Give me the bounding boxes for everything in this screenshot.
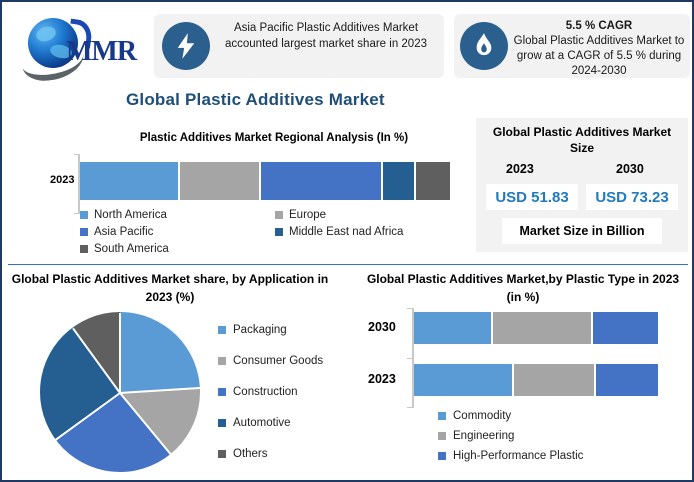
cagr-headline: 5.5 % CAGR — [512, 19, 686, 34]
legend-swatch-icon — [218, 388, 226, 396]
legend-label: Consumer Goods — [233, 355, 323, 367]
application-legend-item: Packaging — [218, 314, 340, 345]
legend-swatch-icon — [438, 412, 446, 420]
badge-cagr: 5.5 % CAGR Global Plastic Additives Mark… — [454, 14, 690, 78]
pie-separator — [119, 313, 121, 393]
legend-label: Asia Pacific — [94, 226, 153, 238]
plastic-type-segment-0-1 — [493, 312, 591, 344]
application-legend-item: Construction — [218, 376, 340, 407]
market-size-unit: Market Size in Billion — [502, 218, 662, 244]
regional-legend-item: North America — [80, 206, 275, 223]
pie-separator — [72, 328, 121, 394]
legend-label: Middle East nad Africa — [289, 226, 403, 238]
chart-plastic-type-title: Global Plastic Additives Market,by Plast… — [360, 270, 686, 306]
market-size-value-2023: USD 51.83 — [486, 184, 578, 210]
chart-application-title: Global Plastic Additives Market share, b… — [10, 270, 330, 306]
legend-label: Europe — [289, 209, 326, 221]
chart-by-application: Global Plastic Additives Market share, b… — [10, 270, 340, 478]
cagr-description: Global Plastic Additives Market to grow … — [514, 35, 685, 77]
chart-plastic-type-bar-2030 — [414, 312, 658, 344]
legend-label: High-Performance Plastic — [453, 450, 583, 462]
chart-application-legend: PackagingConsumer GoodsConstructionAutom… — [218, 314, 340, 469]
legend-swatch-icon — [218, 357, 226, 365]
flame-icon — [460, 22, 508, 70]
legend-label: South America — [94, 243, 169, 255]
lightning-bolt-icon — [162, 22, 210, 70]
legend-label: Engineering — [453, 430, 514, 442]
regional-legend-item: Europe — [275, 206, 470, 223]
market-size-panel: Global Plastic Additives Market Size 202… — [476, 118, 688, 252]
plastic-type-segment-1-2 — [596, 364, 658, 396]
badge-asia-pacific: Asia Pacific Plastic Additives Market ac… — [154, 14, 444, 78]
application-legend-item: Consumer Goods — [218, 345, 340, 376]
regional-legend-item: South America — [80, 240, 275, 257]
chart-plastic-type-bar-2023 — [414, 364, 658, 396]
legend-swatch-icon — [218, 419, 226, 427]
chart-regional-title: Plastic Additives Market Regional Analys… — [78, 132, 470, 144]
regional-segment-1 — [180, 162, 260, 200]
legend-swatch-icon — [218, 450, 226, 458]
chart-plastic-type-label-2030: 2030 — [368, 320, 396, 334]
pie-separator — [55, 392, 121, 441]
plastic-type-legend-item: Commodity — [438, 406, 688, 426]
legend-label: Others — [233, 448, 268, 460]
legend-swatch-icon — [275, 211, 283, 219]
chart-by-plastic-type: Global Plastic Additives Market,by Plast… — [354, 270, 690, 478]
legend-swatch-icon — [80, 211, 88, 219]
legend-label: Construction — [233, 386, 298, 398]
section-divider — [8, 264, 688, 265]
legend-swatch-icon — [438, 432, 446, 440]
legend-swatch-icon — [80, 245, 88, 253]
chart-plastic-type-legend: CommodityEngineeringHigh-Performance Pla… — [438, 406, 688, 466]
pie-separator — [119, 392, 172, 455]
plastic-type-legend-item: High-Performance Plastic — [438, 446, 688, 466]
plastic-type-segment-0-0 — [414, 312, 491, 344]
chart-regional-bar — [80, 162, 450, 200]
market-size-value-2030: USD 73.23 — [586, 184, 678, 210]
pie-separator — [120, 387, 200, 394]
regional-segment-0 — [80, 162, 178, 200]
legend-label: North America — [94, 209, 167, 221]
legend-label: Commodity — [453, 410, 511, 422]
regional-segment-4 — [416, 162, 450, 200]
logo-text: MMR — [66, 36, 136, 68]
chart-plastic-type-label-2023: 2023 — [368, 372, 396, 386]
application-legend-item: Automotive — [218, 407, 340, 438]
badge-asia-pacific-text: Asia Pacific Plastic Additives Market ac… — [214, 20, 438, 52]
market-size-year-2023: 2023 — [506, 162, 534, 176]
chart-regional-analysis: Plastic Additives Market Regional Analys… — [50, 132, 470, 260]
legend-swatch-icon — [438, 452, 446, 460]
application-legend-item: Others — [218, 438, 340, 469]
legend-label: Packaging — [233, 324, 287, 336]
regional-legend-item: Asia Pacific — [80, 223, 275, 240]
legend-swatch-icon — [218, 326, 226, 334]
mmr-logo: MMR — [14, 12, 144, 78]
regional-segment-3 — [383, 162, 414, 200]
regional-segment-2 — [261, 162, 380, 200]
plastic-type-segment-1-0 — [414, 364, 512, 396]
legend-label: Automotive — [233, 417, 291, 429]
page-title: Global Plastic Additives Market — [126, 90, 486, 110]
legend-swatch-icon — [275, 228, 283, 236]
legend-swatch-icon — [80, 228, 88, 236]
chart-regional-ylabel: 2023 — [50, 174, 74, 186]
plastic-type-segment-1-1 — [514, 364, 593, 396]
market-size-title: Global Plastic Additives Market Size — [480, 124, 684, 156]
header: MMR Asia Pacific Plastic Additives Marke… — [6, 6, 690, 86]
badge-cagr-text: 5.5 % CAGR Global Plastic Additives Mark… — [512, 19, 686, 79]
regional-legend-item: Middle East nad Africa — [275, 223, 470, 240]
infographic-frame: MMR Asia Pacific Plastic Additives Marke… — [0, 0, 694, 482]
chart-regional-legend: North AmericaEuropeAsia PacificMiddle Ea… — [80, 206, 470, 257]
plastic-type-legend-item: Engineering — [438, 426, 688, 446]
pie-chart — [40, 312, 200, 472]
market-size-year-2030: 2030 — [616, 162, 644, 176]
plastic-type-segment-0-2 — [593, 312, 658, 344]
